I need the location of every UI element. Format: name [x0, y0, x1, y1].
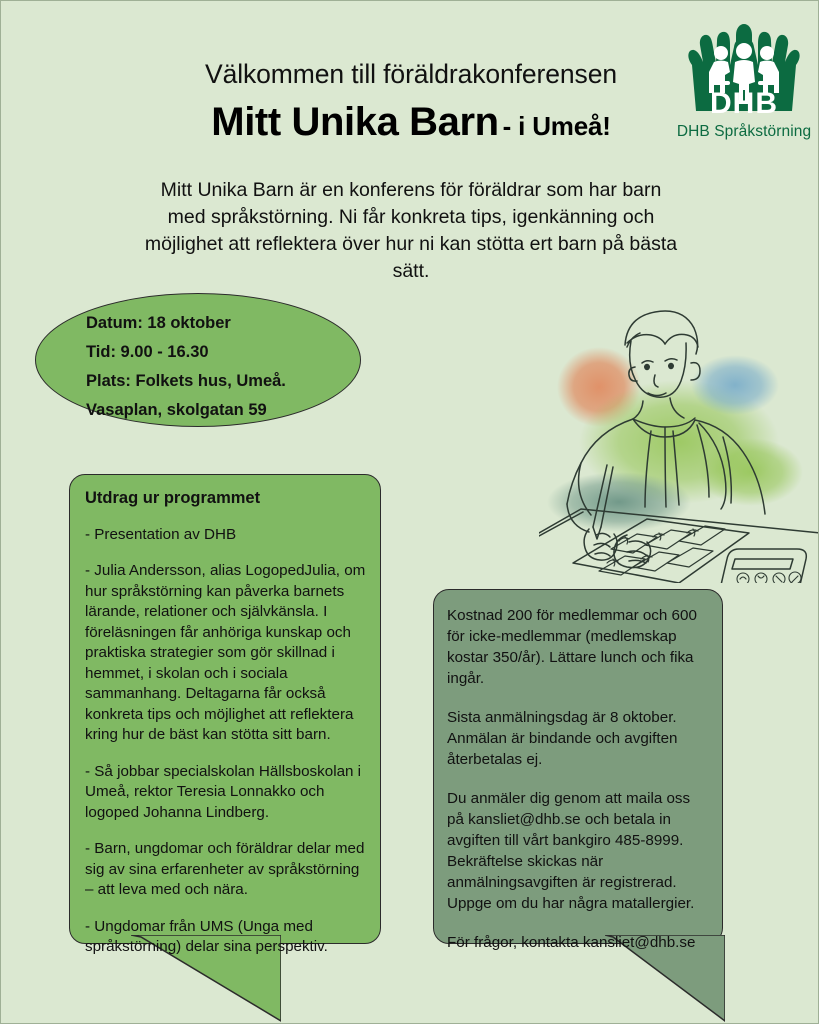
splash-green-right — [699, 438, 803, 506]
splash-teal — [547, 472, 691, 532]
info-bubble-content: Kostnad 200 för medlemmar och 600 för ic… — [447, 605, 709, 953]
program-item: - Julia Andersson, alias LogopedJulia, o… — [85, 561, 367, 746]
title-main: Mitt Unika Barn — [211, 100, 498, 144]
event-details-text: Datum: 18 oktober Tid: 9.00 - 16.30 Plat… — [86, 309, 376, 425]
program-item: - Så jobbar specialskolan Hällsboskolan … — [85, 762, 367, 824]
splash-blue — [691, 355, 779, 415]
info-contact: För frågor, kontakta kansliet@dhb.se — [447, 932, 709, 953]
detail-time: Tid: 9.00 - 16.30 — [86, 338, 376, 367]
page-title: Mitt Unika Barn- i Umeå! — [121, 100, 701, 145]
program-item: - Barn, ungdomar och föräldrar delar med… — [85, 839, 367, 901]
poster-page: DHB DHB Språkstörning Välkommen till för… — [0, 0, 819, 1024]
title-subtitle: - i Umeå! — [503, 111, 611, 141]
boy-writing-illustration — [539, 297, 819, 583]
info-cost: Kostnad 200 för medlemmar och 600 för ic… — [447, 605, 709, 689]
welcome-heading: Välkommen till föräldrakonferensen — [121, 59, 701, 90]
program-item: - Presentation av DHB — [85, 525, 367, 546]
detail-venue: Plats: Folkets hus, Umeå. — [86, 367, 376, 396]
program-item: - Ungdomar från UMS (Unga med språkstörn… — [85, 917, 367, 958]
program-bubble-title: Utdrag ur programmet — [85, 488, 367, 509]
intro-paragraph: Mitt Unika Barn är en konferens för förä… — [141, 177, 681, 285]
program-bubble-content: Utdrag ur programmet - Presentation av D… — [85, 488, 367, 958]
info-registration: Du anmäler dig genom att maila oss på ka… — [447, 788, 709, 914]
detail-address: Vasaplan, skolgatan 59 — [86, 396, 376, 425]
detail-date: Datum: 18 oktober — [86, 309, 376, 338]
info-deadline: Sista anmälningsdag är 8 oktober. Anmäla… — [447, 707, 709, 770]
svg-text:DHB: DHB — [710, 87, 778, 120]
